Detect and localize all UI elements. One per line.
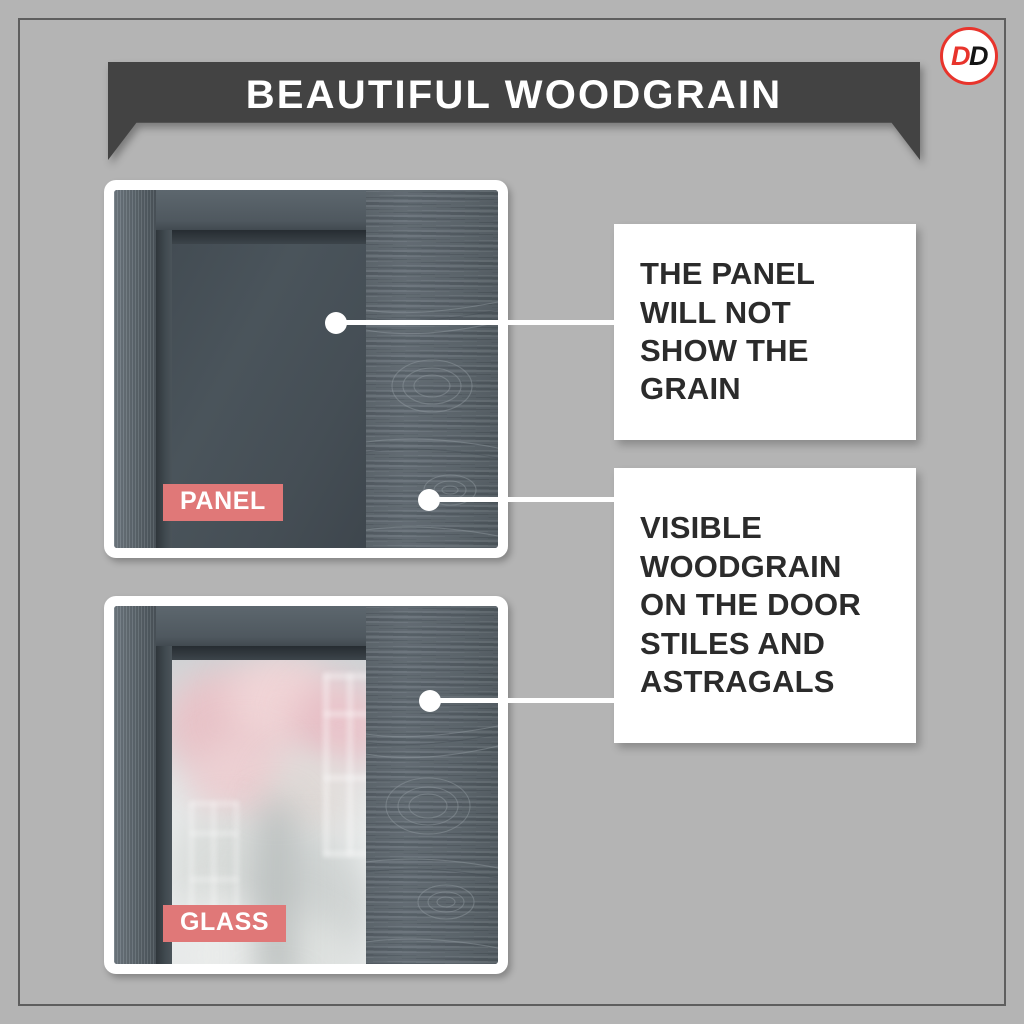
door-top-rail (156, 190, 366, 234)
callout-dot-stile-top (418, 489, 440, 511)
callout-dot-stile-bottom (419, 690, 441, 712)
logo-letter-one: D (951, 41, 969, 72)
panel-badge: PANEL (163, 484, 283, 521)
title-banner: BEAUTIFUL WOODGRAIN (108, 62, 920, 160)
callout-leader-line-2 (433, 497, 618, 502)
panel-bevel-top (156, 230, 366, 244)
glass-badge: GLASS (163, 905, 286, 942)
callout-dot-panel (325, 312, 347, 334)
callout-leader-line-1 (340, 320, 618, 325)
callout-text-woodgrain: VISIBLE WOODGRAIN ON THE DOOR STILES AND… (640, 509, 890, 701)
infographic-canvas: DD BEAUTIFUL WOODGRAIN (0, 0, 1024, 1024)
banner-shape: BEAUTIFUL WOODGRAIN (108, 62, 920, 160)
callout-card-panel: THE PANEL WILL NOT SHOW THE GRAIN (614, 224, 916, 440)
callout-leader-line-3 (434, 698, 618, 703)
glass-bevel-top (156, 646, 366, 660)
door-top-rail-glass (156, 606, 366, 650)
brand-logo: DD (940, 27, 998, 85)
door-left-edge-glass (114, 606, 156, 964)
callout-text-panel: THE PANEL WILL NOT SHOW THE GRAIN (640, 255, 890, 409)
callout-card-woodgrain: VISIBLE WOODGRAIN ON THE DOOR STILES AND… (614, 468, 916, 743)
door-left-edge (114, 190, 156, 548)
logo-letter-two: D (969, 41, 987, 72)
woodgrain-knots-glass (366, 606, 498, 964)
banner-title: BEAUTIFUL WOODGRAIN (246, 73, 783, 118)
